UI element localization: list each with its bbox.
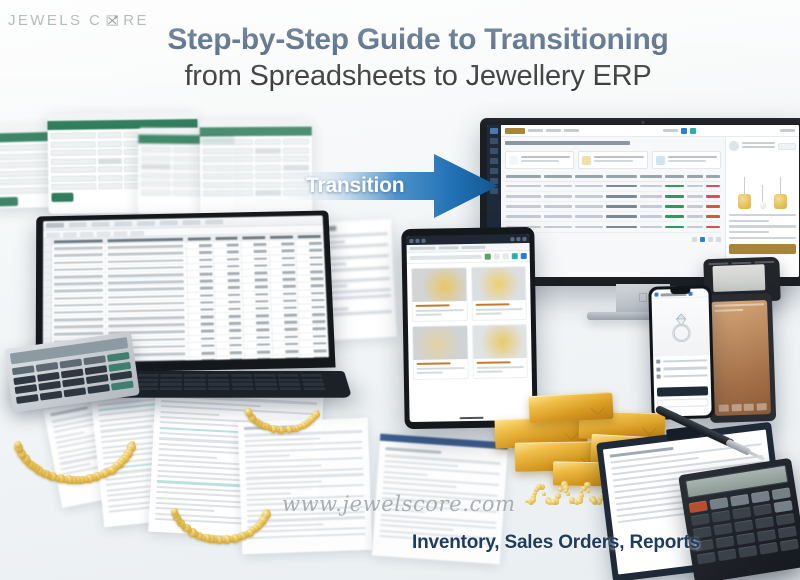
earring-icon [774, 177, 787, 209]
detail-row [656, 366, 707, 371]
forward-icon[interactable] [421, 238, 425, 242]
weight-icon [656, 367, 660, 371]
page-prev[interactable] [692, 237, 697, 242]
summary-card[interactable] [652, 151, 721, 169]
gold-bead [542, 492, 546, 496]
product-card[interactable] [412, 325, 468, 380]
gold-bead [551, 499, 556, 504]
transition-label: Transition [306, 174, 404, 198]
breadcrumb[interactable] [564, 129, 579, 132]
table-row[interactable] [505, 222, 721, 232]
gold-beads [244, 402, 322, 436]
avatar [729, 141, 739, 151]
chain-link [15, 441, 22, 448]
product-image [729, 156, 796, 214]
page-next[interactable] [708, 237, 713, 242]
phone-notch [670, 289, 690, 295]
home-indicator [459, 416, 483, 418]
sidebar-item-inventory[interactable] [490, 138, 498, 144]
erp-body [501, 137, 799, 277]
receipt-paper [712, 264, 765, 292]
breadcrumb[interactable] [410, 247, 436, 250]
product-thumbnail [472, 325, 526, 359]
product-card[interactable] [470, 266, 526, 321]
panel-header [729, 141, 796, 151]
gold-bead [566, 492, 570, 496]
diamond-ring-icon [667, 312, 694, 343]
panel-action-button[interactable] [778, 143, 796, 150]
table-row[interactable] [505, 192, 721, 202]
erp-main-area [501, 125, 799, 277]
back-icon[interactable] [654, 292, 658, 296]
search-icon[interactable] [510, 237, 514, 241]
product-card[interactable] [471, 324, 527, 379]
summary-card[interactable] [578, 151, 647, 169]
gold-bead [587, 489, 590, 492]
brand-name-left: JEWELS C [8, 12, 102, 29]
breadcrumb[interactable] [462, 246, 486, 249]
table-row[interactable] [505, 212, 721, 222]
product-thumbnail [412, 268, 466, 302]
grid-view-icon[interactable] [681, 128, 687, 134]
back-icon[interactable] [415, 238, 419, 242]
refresh-icon[interactable] [503, 253, 509, 259]
earring-icon [756, 185, 769, 209]
price-icon [657, 375, 661, 379]
gold-bead [576, 498, 583, 505]
page-title [505, 141, 630, 145]
add-item-button[interactable] [521, 253, 527, 259]
transition-arrow: Transition [288, 150, 500, 222]
ring-product-image [652, 297, 710, 356]
product-detail-panel [725, 137, 799, 277]
bell-icon[interactable] [516, 237, 520, 241]
breadcrumb[interactable] [528, 129, 543, 132]
product-thumbnail [413, 326, 467, 360]
table-row[interactable] [505, 202, 721, 212]
export-excel-icon[interactable] [485, 254, 491, 260]
table-row[interactable] [505, 182, 721, 192]
webcam-icon [642, 121, 645, 124]
gold-bar [528, 392, 613, 423]
panel-details [729, 214, 796, 239]
breadcrumb[interactable] [546, 129, 561, 132]
gold-necklace [12, 430, 138, 492]
tag-icon [656, 360, 660, 364]
gold-bead [534, 487, 539, 492]
product-card[interactable] [411, 267, 467, 322]
calculator-keypad[interactable] [689, 487, 799, 564]
poster-canvas:  [0, 0, 800, 580]
calculator [678, 458, 800, 580]
user-menu[interactable] [780, 129, 795, 132]
product-grid [407, 262, 532, 384]
page-current[interactable] [700, 237, 705, 242]
menu-icon[interactable] [409, 238, 413, 242]
product-thumbnail [471, 267, 525, 301]
filter-icon[interactable] [494, 253, 500, 259]
earring-icon [738, 177, 751, 209]
avatar-icon[interactable] [522, 236, 526, 240]
gold-bead [580, 489, 583, 492]
grid-view-icon[interactable] [512, 253, 518, 259]
erp-toolbar [501, 125, 799, 137]
page-last[interactable] [716, 237, 721, 242]
pos-screen[interactable] [711, 300, 771, 416]
pos-terminal [706, 258, 778, 424]
filter-control[interactable] [663, 129, 678, 132]
panel-cta-button[interactable] [729, 244, 796, 254]
phone-detail-rows [653, 355, 711, 385]
summary-cards [505, 151, 721, 169]
search-input[interactable] [410, 255, 482, 260]
title-line-1: Step-by-Step Guide to Transitioning [118, 22, 718, 57]
pagination[interactable] [505, 233, 721, 242]
gold-bead [564, 489, 568, 493]
page-title: Step-by-Step Guide to Transitioning from… [118, 22, 718, 95]
footer-caption: Inventory, Sales Orders, Reports [412, 532, 700, 554]
list-view-icon[interactable] [690, 128, 696, 134]
gold-bracelet [168, 498, 274, 552]
summary-card[interactable] [505, 151, 574, 169]
breadcrumb[interactable] [439, 246, 459, 249]
module-badge[interactable] [505, 128, 525, 134]
detail-row [656, 358, 707, 363]
title-line-2: from Spreadsheets to Jewellery ERP [118, 59, 718, 94]
sidebar-item-dashboard[interactable] [490, 128, 498, 134]
gold-bead [530, 497, 537, 504]
apple-logo-icon:  [638, 290, 648, 305]
site-watermark: www.jewelscore.com [282, 492, 516, 516]
pos-keypad[interactable] [719, 403, 767, 412]
pos-device-body [706, 293, 776, 423]
table-header-row [505, 175, 721, 182]
detail-row [657, 373, 708, 378]
